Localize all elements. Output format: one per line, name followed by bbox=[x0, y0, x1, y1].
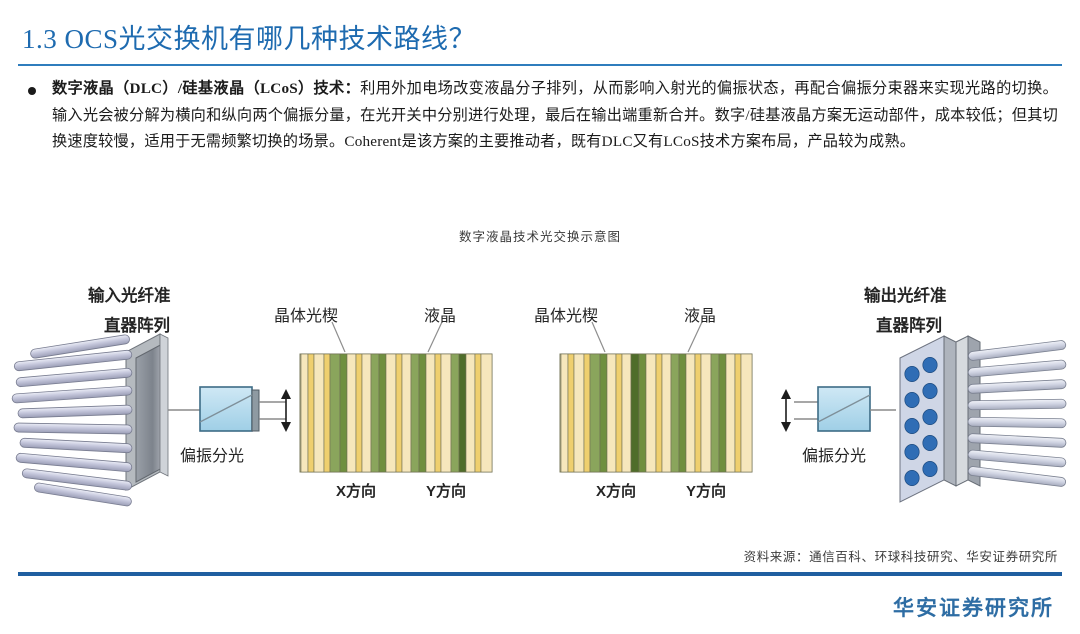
x-direction-label-right: X方向 bbox=[596, 480, 636, 501]
title-divider bbox=[18, 64, 1062, 66]
crystal-wedge-label-left: 晶体光楔 bbox=[274, 302, 338, 326]
left-polarization-beam-splitter bbox=[168, 387, 291, 432]
input-fiber-array bbox=[12, 334, 168, 507]
bullet-dot-icon bbox=[28, 87, 36, 95]
input-array-label-line1: 输入光纤准 bbox=[88, 282, 171, 306]
optical-switch-diagram: 输入光纤准 直器阵列 晶体光楔 液晶 晶体光楔 液晶 输出光纤准 直器阵列 偏振… bbox=[0, 262, 1080, 530]
body-paragraph: 数字液晶（DLC）/硅基液晶（LCoS）技术：利用外加电场改变液晶分子排列，从而… bbox=[52, 76, 1058, 156]
right-crystal-lc-stack bbox=[560, 322, 752, 472]
pbs-label-right: 偏振分光 bbox=[802, 442, 866, 466]
liquid-crystal-label-left: 液晶 bbox=[424, 302, 456, 326]
y-direction-label-left: Y方向 bbox=[426, 480, 466, 501]
y-direction-label-right: Y方向 bbox=[686, 480, 726, 501]
figure-caption: 数字液晶技术光交换示意图 bbox=[0, 226, 1080, 245]
liquid-crystal-label-right: 液晶 bbox=[684, 302, 716, 326]
output-array-label-line1: 输出光纤准 bbox=[864, 282, 947, 306]
body-lead-bold: 数字液晶（DLC）/硅基液晶（LCoS）技术： bbox=[52, 80, 360, 97]
left-crystal-lc-stack bbox=[300, 322, 492, 472]
brand-logo-text: 华安证券研究所 bbox=[893, 592, 1054, 622]
input-array-label-line2: 直器阵列 bbox=[104, 312, 170, 336]
output-fiber-array bbox=[900, 336, 1066, 502]
right-polarization-beam-splitter bbox=[781, 387, 896, 432]
footer-divider bbox=[18, 572, 1062, 576]
slide-root: 1.3 OCS光交换机有哪几种技术路线？ 数字液晶（DLC）/硅基液晶（LCoS… bbox=[0, 0, 1080, 634]
crystal-wedge-label-right: 晶体光楔 bbox=[534, 302, 598, 326]
page-title: 1.3 OCS光交换机有哪几种技术路线？ bbox=[22, 22, 476, 56]
pbs-label-left: 偏振分光 bbox=[180, 442, 244, 466]
x-direction-label-left: X方向 bbox=[336, 480, 376, 501]
output-array-label-line2: 直器阵列 bbox=[876, 312, 942, 336]
bullet-block: 数字液晶（DLC）/硅基液晶（LCoS）技术：利用外加电场改变液晶分子排列，从而… bbox=[22, 76, 1058, 156]
source-note: 资料来源：通信百科、环球科技研究、华安证券研究所 bbox=[744, 546, 1058, 565]
